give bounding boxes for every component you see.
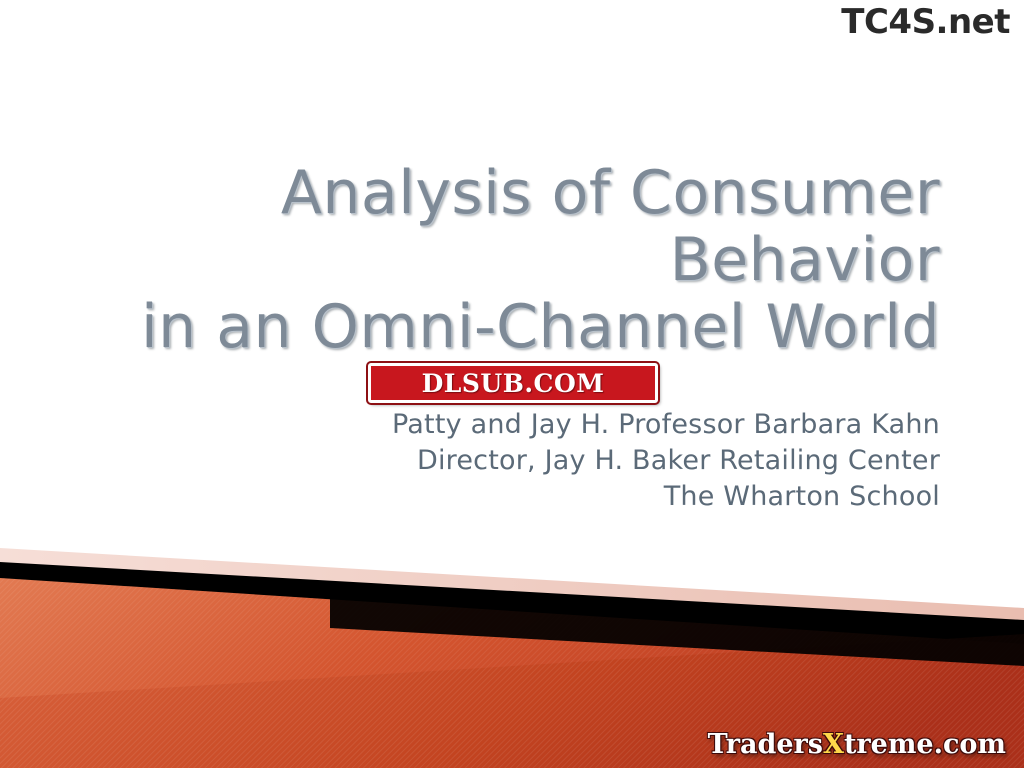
subtitle-line-2: Director, Jay H. Baker Retailing Center: [60, 443, 940, 479]
tradersxtreme-prefix: Traders: [708, 729, 823, 760]
tradersxtreme-watermark: TradersXtreme.com: [708, 729, 1006, 760]
tradersxtreme-suffix: treme.com: [844, 729, 1006, 760]
tc4s-watermark: TC4S.net: [841, 2, 1010, 42]
title-line-1: Analysis of Consumer: [60, 160, 940, 227]
tradersxtreme-accent: X: [823, 729, 844, 760]
subtitle-line-1: Patty and Jay H. Professor Barbara Kahn: [60, 407, 940, 443]
dlsub-watermark-label: DLSUB.COM: [422, 369, 605, 398]
slide-title: Analysis of Consumer Behavior in an Omni…: [60, 160, 940, 362]
slide-subtitle: Patty and Jay H. Professor Barbara Kahn …: [60, 407, 940, 515]
title-line-2: Behavior: [60, 227, 940, 294]
title-line-3: in an Omni-Channel World: [60, 294, 940, 361]
presentation-slide: TC4S.net Analysis of Consumer Behavior i…: [0, 0, 1024, 768]
subtitle-line-3: The Wharton School: [60, 479, 940, 515]
dlsub-watermark: DLSUB.COM: [368, 363, 658, 403]
